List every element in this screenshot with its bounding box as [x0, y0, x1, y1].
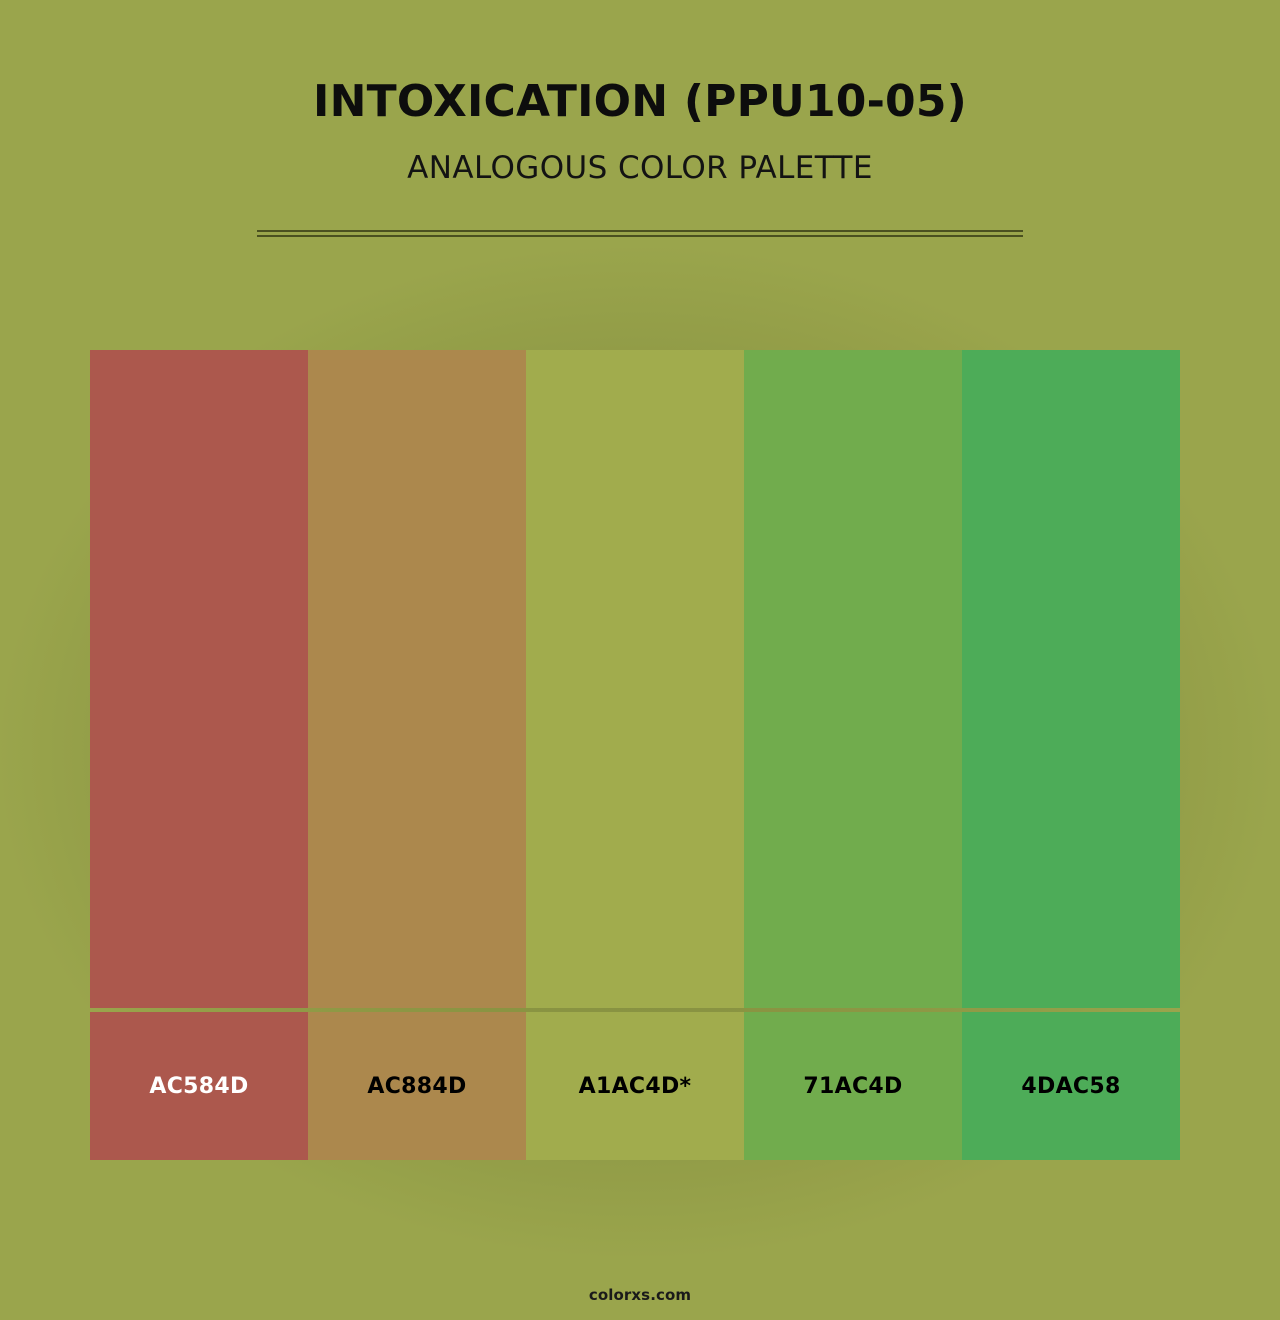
- swatch-column[interactable]: A1AC4D*: [526, 350, 744, 1160]
- divider-line-bottom: [257, 235, 1023, 237]
- page-subtitle: ANALOGOUS COLOR PALETTE: [0, 128, 1280, 187]
- swatch-hex-label[interactable]: AC884D: [308, 1012, 526, 1160]
- swatch-color-block[interactable]: [744, 350, 962, 1008]
- site-credit[interactable]: colorxs.com: [589, 1286, 691, 1304]
- page-footer: colorxs.com: [0, 1285, 1280, 1304]
- swatch-hex-label[interactable]: 4DAC58: [962, 1012, 1180, 1160]
- swatch-color-block[interactable]: [308, 350, 526, 1008]
- swatch-column[interactable]: 4DAC58: [962, 350, 1180, 1160]
- title-divider: [257, 230, 1023, 237]
- page-title: INTOXICATION (PPU10-05): [0, 0, 1280, 128]
- page-header: INTOXICATION (PPU10-05) ANALOGOUS COLOR …: [0, 0, 1280, 187]
- color-palette: AC584DAC884DA1AC4D*71AC4D4DAC58: [90, 350, 1180, 1160]
- swatch-hex-label[interactable]: AC584D: [90, 1012, 308, 1160]
- swatch-hex-label[interactable]: A1AC4D*: [526, 1012, 744, 1160]
- swatch-column[interactable]: AC584D: [90, 350, 308, 1160]
- swatch-column[interactable]: AC884D: [308, 350, 526, 1160]
- swatch-color-block[interactable]: [90, 350, 308, 1008]
- palette-page: INTOXICATION (PPU10-05) ANALOGOUS COLOR …: [0, 0, 1280, 1320]
- swatch-color-block[interactable]: [962, 350, 1180, 1008]
- swatch-hex-label[interactable]: 71AC4D: [744, 1012, 962, 1160]
- swatch-column[interactable]: 71AC4D: [744, 350, 962, 1160]
- swatch-color-block[interactable]: [526, 350, 744, 1008]
